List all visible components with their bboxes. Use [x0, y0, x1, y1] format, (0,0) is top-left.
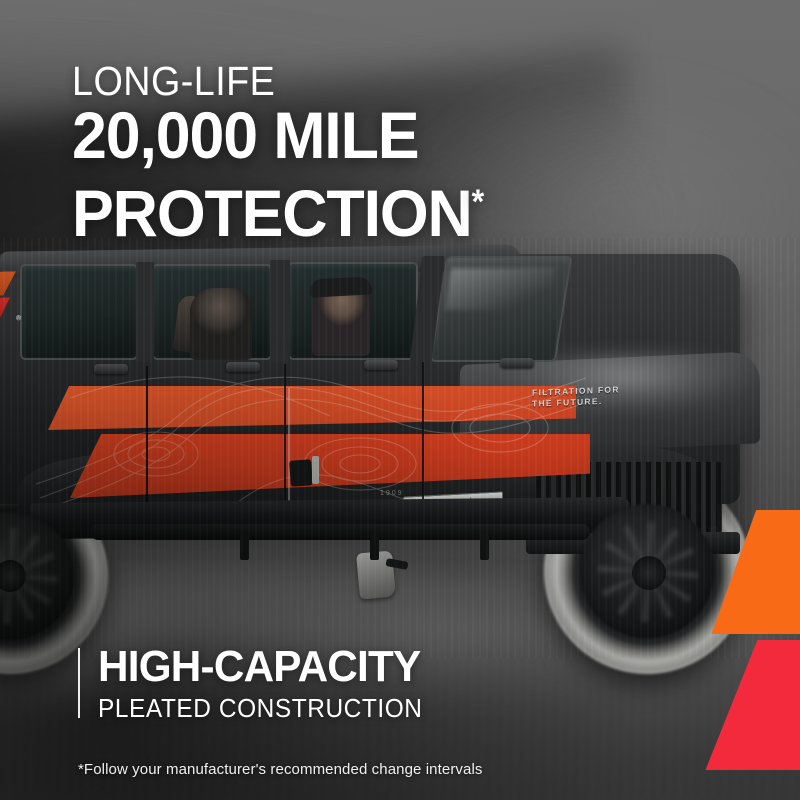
promo-banner: 1909 FILTRATION FORTHE FUTURE. K& N ®	[0, 0, 800, 800]
headline-line-2-text: PROTECTION	[72, 176, 472, 250]
subhead-block: HIGH-CAPACITY PLEATED CONSTRUCTION	[78, 644, 718, 723]
headline-line-2: PROTECTION*	[72, 171, 661, 245]
headline-block: LONG-LIFE 20,000 MILE PROTECTION*	[72, 58, 692, 245]
footnote-disclaimer: *Follow your manufacturer's recommended …	[78, 761, 482, 778]
subhead-line-1: HIGH-CAPACITY	[98, 644, 693, 690]
headline-asterisk: *	[472, 183, 483, 221]
subhead-line-2: PLEATED CONSTRUCTION	[98, 693, 681, 723]
subhead-accent-rule	[78, 648, 80, 718]
headline-line-1: 20,000 MILE	[72, 104, 661, 167]
